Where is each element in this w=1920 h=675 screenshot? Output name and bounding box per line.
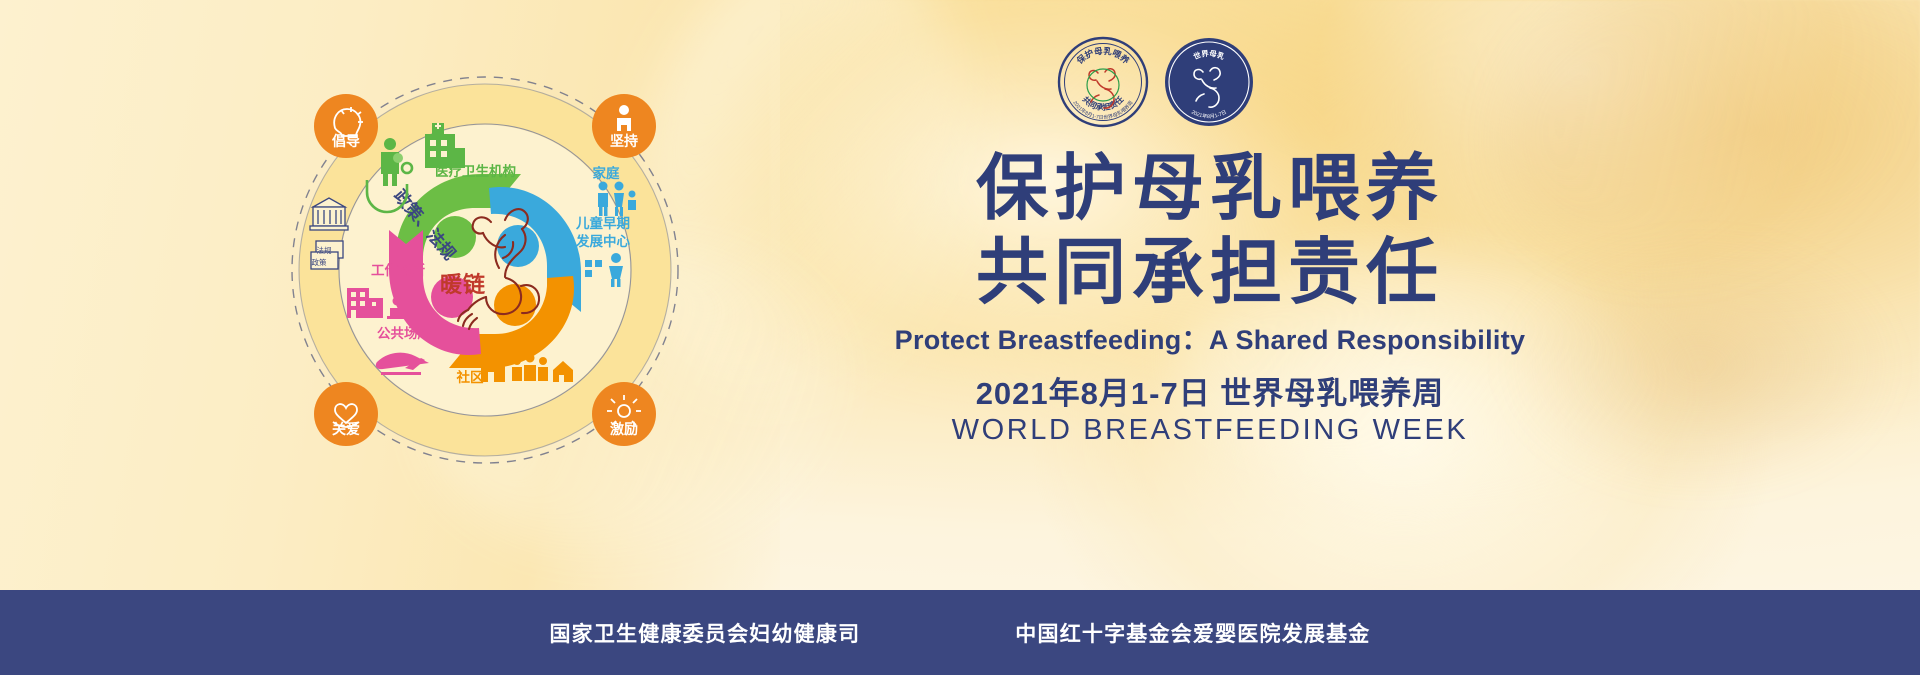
- sector-label-ecd-line1: 儿童早期: [575, 215, 630, 231]
- right-content: 保护母乳喂养 共同承担责任 2021年8月1-7日世界母乳喂养周: [860, 18, 1560, 498]
- sector-label-ecd-line2: 发展中心: [575, 233, 630, 249]
- sector-label-public-space: 公共场所: [377, 325, 431, 341]
- footer-org-left: 国家卫生健康委员会妇幼健康司: [549, 618, 860, 648]
- date-line-chinese: 2021年8月1-7日 世界母乳喂养周: [860, 368, 1560, 413]
- title-line-2: 共同承担责任: [860, 232, 1560, 316]
- badge-label-advocacy: 倡导: [331, 133, 360, 149]
- seal2-disc: [1165, 38, 1253, 126]
- badge-label-motivate: 激励: [610, 421, 638, 437]
- badge-advocacy[interactable]: 倡导: [314, 94, 378, 158]
- title-line-1: 保护母乳喂养: [976, 149, 1444, 229]
- center-label: 暖链: [440, 272, 486, 297]
- protect-breastfeeding-seal: 保护母乳喂养 共同承担责任 2021年8月1-7日世界母乳喂养周: [1057, 36, 1149, 128]
- footer-org-right: 中国红十字基金会爱婴医院发展基金: [1015, 618, 1370, 648]
- arm-dot-orange: [494, 284, 536, 326]
- badge-persist[interactable]: 坚持: [592, 94, 656, 158]
- sector-label-community: 社区: [456, 369, 484, 385]
- seal-top-text: 保护母乳喂养: [1073, 45, 1132, 67]
- policy-doc-label-top: 法规: [317, 245, 332, 255]
- sector-label-health-facility: 医疗卫生机构: [435, 163, 516, 179]
- sector-label-workplace: 工作场所: [371, 262, 425, 278]
- seal-outer-ring: [1059, 38, 1147, 126]
- sector-label-family: 家庭: [593, 165, 621, 181]
- footer-bar: 国家卫生健康委员会妇幼健康司 中国红十字基金会爱婴医院发展基金: [0, 590, 1920, 675]
- warm-chain-infographic: 暖链 政策、法规 法规 政策: [285, 70, 685, 470]
- week-line-english: WORLD BREASTFEEDING WEEK: [860, 414, 1560, 447]
- arm-dot-blue: [497, 225, 539, 267]
- seal-group: 保护母乳喂养 共同承担责任 2021年8月1-7日世界母乳喂养周: [1057, 36, 1255, 128]
- policy-doc-label-bottom: 政策: [312, 257, 327, 267]
- subtitle-english: Protect Breastfeeding：A Shared Responsib…: [860, 318, 1560, 357]
- poster-stage: 暖链 政策、法规 法规 政策: [0, 0, 1920, 675]
- badge-motivate[interactable]: 激励: [592, 382, 656, 446]
- badge-label-care: 关爱: [332, 421, 360, 437]
- page-title: 保护母乳喂养 共同承担责任: [860, 148, 1560, 315]
- breastfeeding-week-seal: 世界母乳 2021年8月1-7日: [1163, 36, 1255, 128]
- badge-label-persist: 坚持: [610, 133, 638, 149]
- seal-emblem-circle: [1087, 69, 1119, 101]
- seal-bottom-text: 共同承担责任: [1081, 94, 1126, 112]
- badge-care[interactable]: 关爱: [314, 382, 378, 446]
- policy-documents-icon: 法规 政策: [311, 241, 343, 269]
